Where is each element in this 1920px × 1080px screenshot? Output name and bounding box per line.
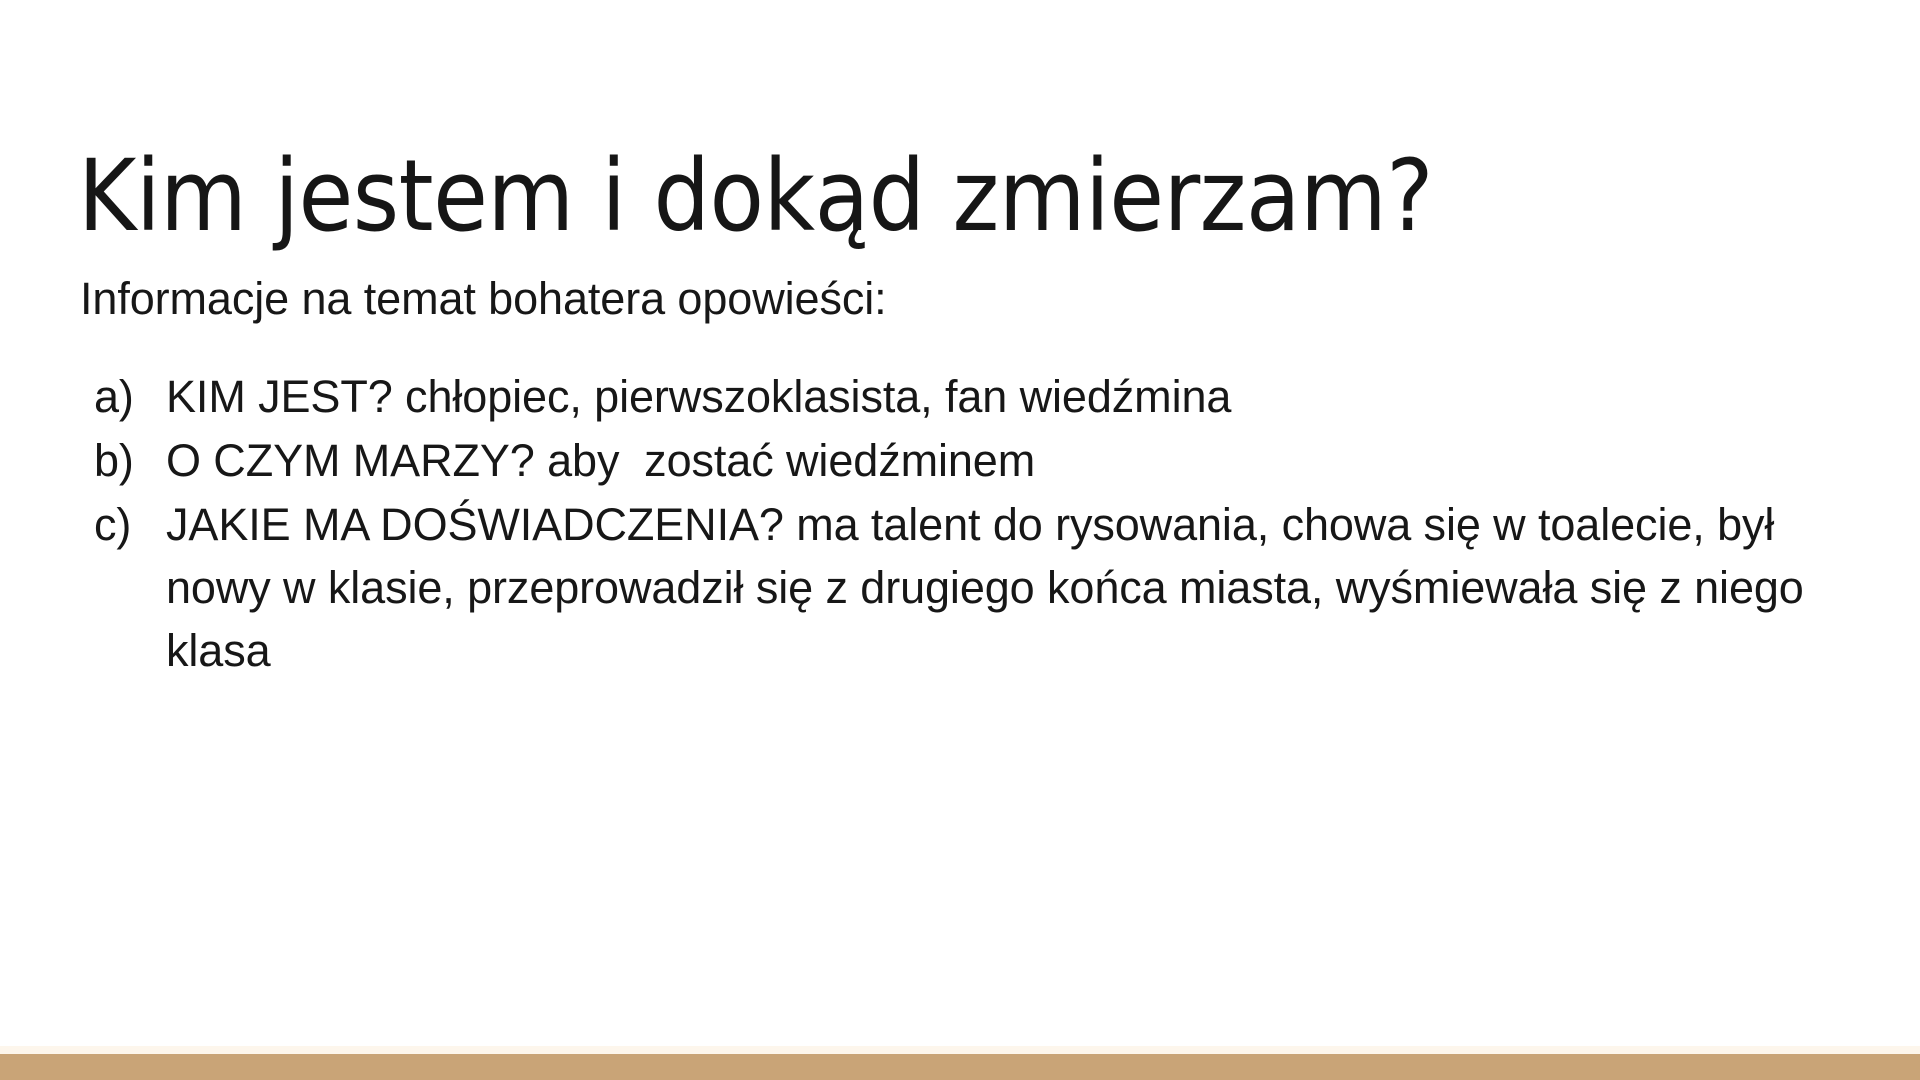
list-item: a) KIM JEST? chłopiec, pierwszoklasista,…	[80, 365, 1870, 428]
list-item-text: O CZYM MARZY? aby zostać wiedźminem	[166, 429, 1866, 492]
list-item: b) O CZYM MARZY? aby zostać wiedźminem	[80, 429, 1870, 492]
list-item-marker: c)	[80, 493, 166, 556]
slide-body: Informacje na temat bohatera opowieści: …	[80, 272, 1870, 683]
list-item: c) JAKIE MA DOŚWIADCZENIA? ma talent do …	[80, 493, 1870, 682]
list-item-text: JAKIE MA DOŚWIADCZENIA? ma talent do rys…	[166, 493, 1866, 682]
list-item-text: KIM JEST? chłopiec, pierwszoklasista, fa…	[166, 365, 1866, 428]
list-item-marker: b)	[80, 429, 166, 492]
lettered-list: a) KIM JEST? chłopiec, pierwszoklasista,…	[80, 365, 1870, 682]
lead-paragraph: Informacje na temat bohatera opowieści:	[80, 272, 1870, 327]
accent-bar-highlight	[0, 1046, 1920, 1054]
accent-bar	[0, 1054, 1920, 1080]
list-item-marker: a)	[80, 365, 166, 428]
slide-title: Kim jestem i dokąd zmierzam?	[78, 144, 1838, 251]
presentation-slide: Kim jestem i dokąd zmierzam? Informacje …	[0, 0, 1920, 1080]
